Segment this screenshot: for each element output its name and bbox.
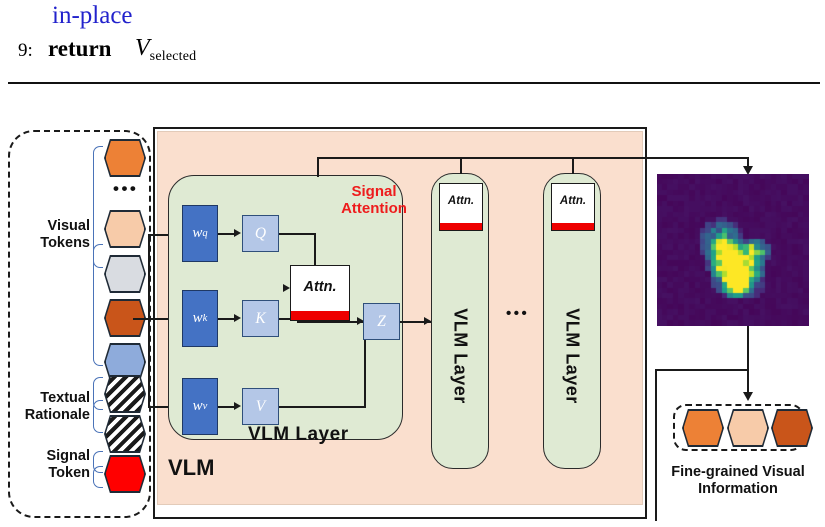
arrow-wq-to-q (234, 229, 241, 237)
arrow-qk-to-attn (283, 284, 290, 292)
projection-box-v: V (242, 388, 279, 425)
layer-attention-box: Attn. (439, 183, 483, 231)
signal-token-brace-lower (93, 466, 103, 488)
vlm-layer-label: VLM Layer (450, 309, 471, 405)
vlm-container-label: VLM (168, 455, 214, 481)
signal-attention-box: Attn. (290, 265, 350, 321)
algorithm-pseudocode-block: in-place 9: return Vselected (0, 0, 825, 92)
output-token-2 (727, 409, 769, 447)
arrow-heatmap-to-output (743, 392, 753, 401)
line-q-out (279, 233, 316, 235)
arrow-wk-to-k (234, 314, 241, 322)
attention-red-bar (440, 223, 482, 230)
algorithm-continuation-text: in-place (52, 2, 133, 30)
attention-label: Attn. (552, 195, 594, 207)
textual-rationale-label: Textual Rationale (10, 390, 90, 424)
rationale-token-2 (104, 415, 146, 453)
layer-attention-box: Attn. (551, 183, 595, 231)
output-token-1 (682, 409, 724, 447)
visual-token-2 (104, 210, 146, 248)
algorithm-return-keyword: return (48, 36, 111, 62)
signal-attention-caption: Signal Attention (330, 183, 418, 217)
attention-label: Attn. (440, 195, 482, 207)
arrow-z-to-next-layer (424, 317, 431, 325)
attention-red-bar (291, 311, 349, 320)
vlm-main-layer-label: VLM Layer (248, 424, 349, 446)
textual-rationale-brace-lower (93, 400, 103, 433)
line-v-out (279, 406, 366, 408)
line-heatmap-to-output (747, 326, 749, 395)
feedback-line-horizontal (655, 369, 748, 371)
symbol-subscript: selected (150, 49, 197, 64)
weight-box-wk: wk (182, 290, 218, 347)
visual-tokens-brace-lower (93, 244, 103, 366)
collector-drop-main (317, 157, 319, 177)
collector-drop-layer1 (460, 157, 462, 174)
algorithm-line-number: 9: (18, 40, 33, 62)
weight-box-wv: wv (182, 378, 218, 435)
token-bus-vertical (148, 234, 150, 408)
attention-red-bar (552, 223, 594, 230)
signal-token (104, 455, 146, 493)
arrow-wv-to-v (234, 402, 241, 410)
weight-box-wq: wq (182, 205, 218, 262)
vlm-stacked-layer-1: Attn. VLM Layer (431, 173, 489, 469)
algorithm-return-symbol: Vselected (135, 35, 196, 65)
output-token-3 (771, 409, 813, 447)
projection-box-q: Q (242, 215, 279, 252)
layer-ellipsis: ••• (506, 305, 529, 322)
visual-token-3 (104, 255, 146, 293)
vlm-layer-label: VLM Layer (562, 309, 583, 405)
attention-label: Attn. (291, 279, 349, 295)
rationale-token-1 (104, 375, 146, 413)
visual-token-1 (104, 139, 146, 177)
visual-tokens-label: Visual Tokens (16, 218, 90, 252)
signal-token-label: Signal Token (18, 448, 90, 482)
symbol-base: V (135, 35, 150, 61)
output-caption: Fine-grained Visual Information (652, 464, 824, 499)
vlm-stacked-layer-2: Attn. VLM Layer (543, 173, 601, 469)
attention-heatmap (657, 174, 809, 326)
algorithm-horizontal-rule (8, 82, 820, 84)
visual-tokens-ellipsis: ••• (113, 179, 138, 199)
collector-drop-layer2 (572, 157, 574, 174)
line-attn-to-z (297, 321, 364, 323)
attention-output-z: Z (363, 303, 400, 340)
attention-heatmap-canvas (657, 174, 809, 326)
projection-box-k: K (242, 300, 279, 337)
attention-collector-bus (317, 157, 749, 159)
